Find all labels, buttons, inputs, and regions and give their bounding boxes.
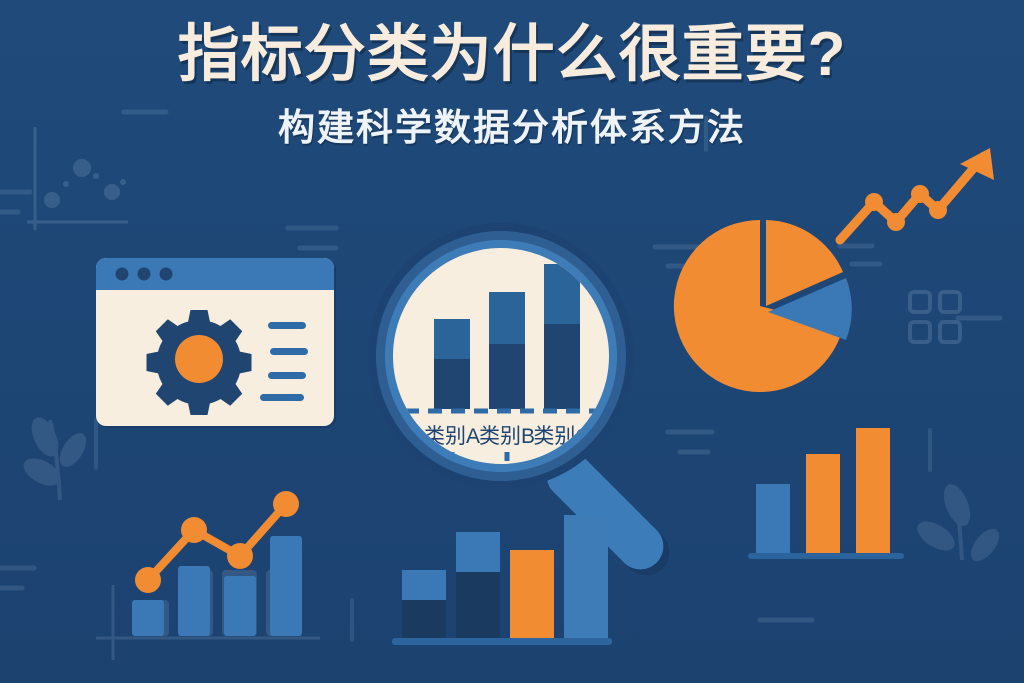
center-chart-baseline	[392, 638, 612, 645]
window-dots	[116, 268, 173, 281]
right-chart-baseline	[748, 553, 904, 559]
poster-canvas: 指标分类为什么很重要? 构建科学数据分析体系方法	[0, 0, 1024, 683]
dashboard-window[interactable]	[96, 258, 344, 436]
trend-arrow-chart	[834, 136, 1010, 246]
bar-c-bottom	[544, 324, 580, 409]
bar-b-top	[489, 292, 525, 344]
settings-gear-icon[interactable]	[147, 310, 252, 415]
bar-a-top	[434, 319, 470, 359]
bar-a-bottom	[434, 359, 470, 409]
combo-line	[148, 504, 286, 580]
combo-bar-line-chart[interactable]	[112, 480, 322, 645]
center-bar-chart[interactable]	[392, 495, 612, 650]
bar-b-bottom	[489, 344, 525, 409]
window-titlebar	[96, 258, 334, 290]
right-bars	[756, 428, 890, 553]
center-bars	[402, 515, 608, 638]
right-bar-chart[interactable]	[748, 410, 908, 570]
category-label-b: 类别B	[479, 425, 535, 448]
